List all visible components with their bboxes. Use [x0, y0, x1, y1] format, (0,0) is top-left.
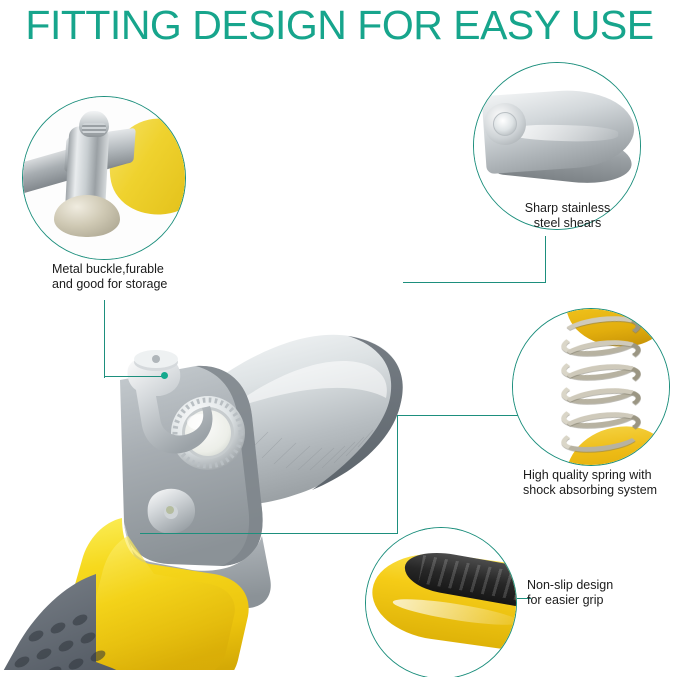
callout-line-1: Metal buckle,furable — [52, 262, 232, 277]
spring-closeup-circle — [512, 308, 670, 466]
callout-label-sharp-shears: Sharp stainless steel shears — [480, 201, 655, 231]
leader-dot-buckle — [161, 372, 168, 379]
buckle-closeup-art — [23, 97, 185, 259]
callout-line-1: High quality spring with — [523, 468, 679, 483]
infographic-canvas: FITTING DESIGN FOR EASY USE — [0, 0, 679, 677]
callout-line-2: shock absorbing system — [523, 483, 679, 498]
callout-line-1: Non-slip design — [527, 578, 677, 593]
callout-label-quality-spring: High quality spring with shock absorbing… — [523, 468, 679, 498]
spring-closeup-art — [513, 309, 669, 465]
grip-closeup-circle — [365, 527, 517, 677]
leader-line-buckle-horizontal — [104, 376, 165, 377]
callout-line-1: Sharp stainless — [480, 201, 655, 216]
grip-closeup-art — [366, 528, 516, 677]
callout-label-non-slip-grip: Non-slip design for easier grip — [527, 578, 677, 608]
callout-line-2: steel shears — [480, 216, 655, 231]
buckle-closeup-circle — [22, 96, 186, 260]
page-title: FITTING DESIGN FOR EASY USE — [0, 2, 679, 48]
leader-line-spring-bottom — [140, 533, 398, 534]
leader-line-buckle-vertical — [104, 300, 105, 378]
callout-line-2: for easier grip — [527, 593, 677, 608]
leader-line-spring-top — [397, 415, 527, 416]
leader-line-spring-vertical — [397, 415, 398, 534]
leader-line-shears-vertical — [545, 236, 546, 283]
leader-line-shears-horizontal — [403, 282, 546, 283]
callout-line-2: and good for storage — [52, 277, 232, 292]
callout-label-metal-buckle: Metal buckle,furable and good for storag… — [52, 262, 232, 292]
